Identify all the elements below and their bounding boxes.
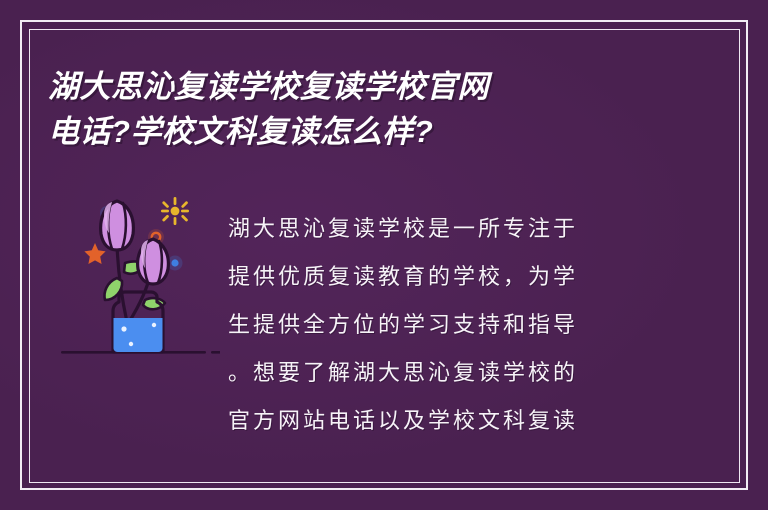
page-title-line-1: 湖大思沁复读学校复读学校官网 [48, 64, 648, 109]
body-text-line-2: 提供优质复读教育的学校，为学 [228, 254, 648, 302]
page-title: 湖大思沁复读学校复读学校官网 电话?学校文科复读怎么样? [48, 64, 648, 154]
poster-canvas: 湖大思沁复读学校复读学校官网 电话?学校文科复读怎么样? 湖大思沁复读学校是一所… [0, 0, 768, 510]
gold-sunburst-icon [161, 197, 189, 225]
tulip-flower-right-icon [138, 239, 169, 284]
body-text-line-3: 生提供全方位的学习支持和指导 [228, 302, 648, 350]
body-text: 湖大思沁复读学校是一所专注于 提供优质复读教育的学校，为学 生提供全方位的学习支… [228, 206, 648, 446]
body-text-line-5: 官方网站电话以及学校文科复读 [228, 398, 648, 446]
orange-star-icon [84, 243, 105, 264]
body-text-line-1: 湖大思沁复读学校是一所专注于 [228, 206, 648, 254]
tulip-flower-left-icon [101, 201, 134, 250]
body-text-line-4: 。想要了解湖大思沁复读学校的 [228, 350, 648, 398]
page-title-line-2: 电话?学校文科复读怎么样? [48, 109, 648, 154]
flower-vase-illustration [55, 190, 220, 365]
glass-jar-icon [113, 292, 163, 352]
